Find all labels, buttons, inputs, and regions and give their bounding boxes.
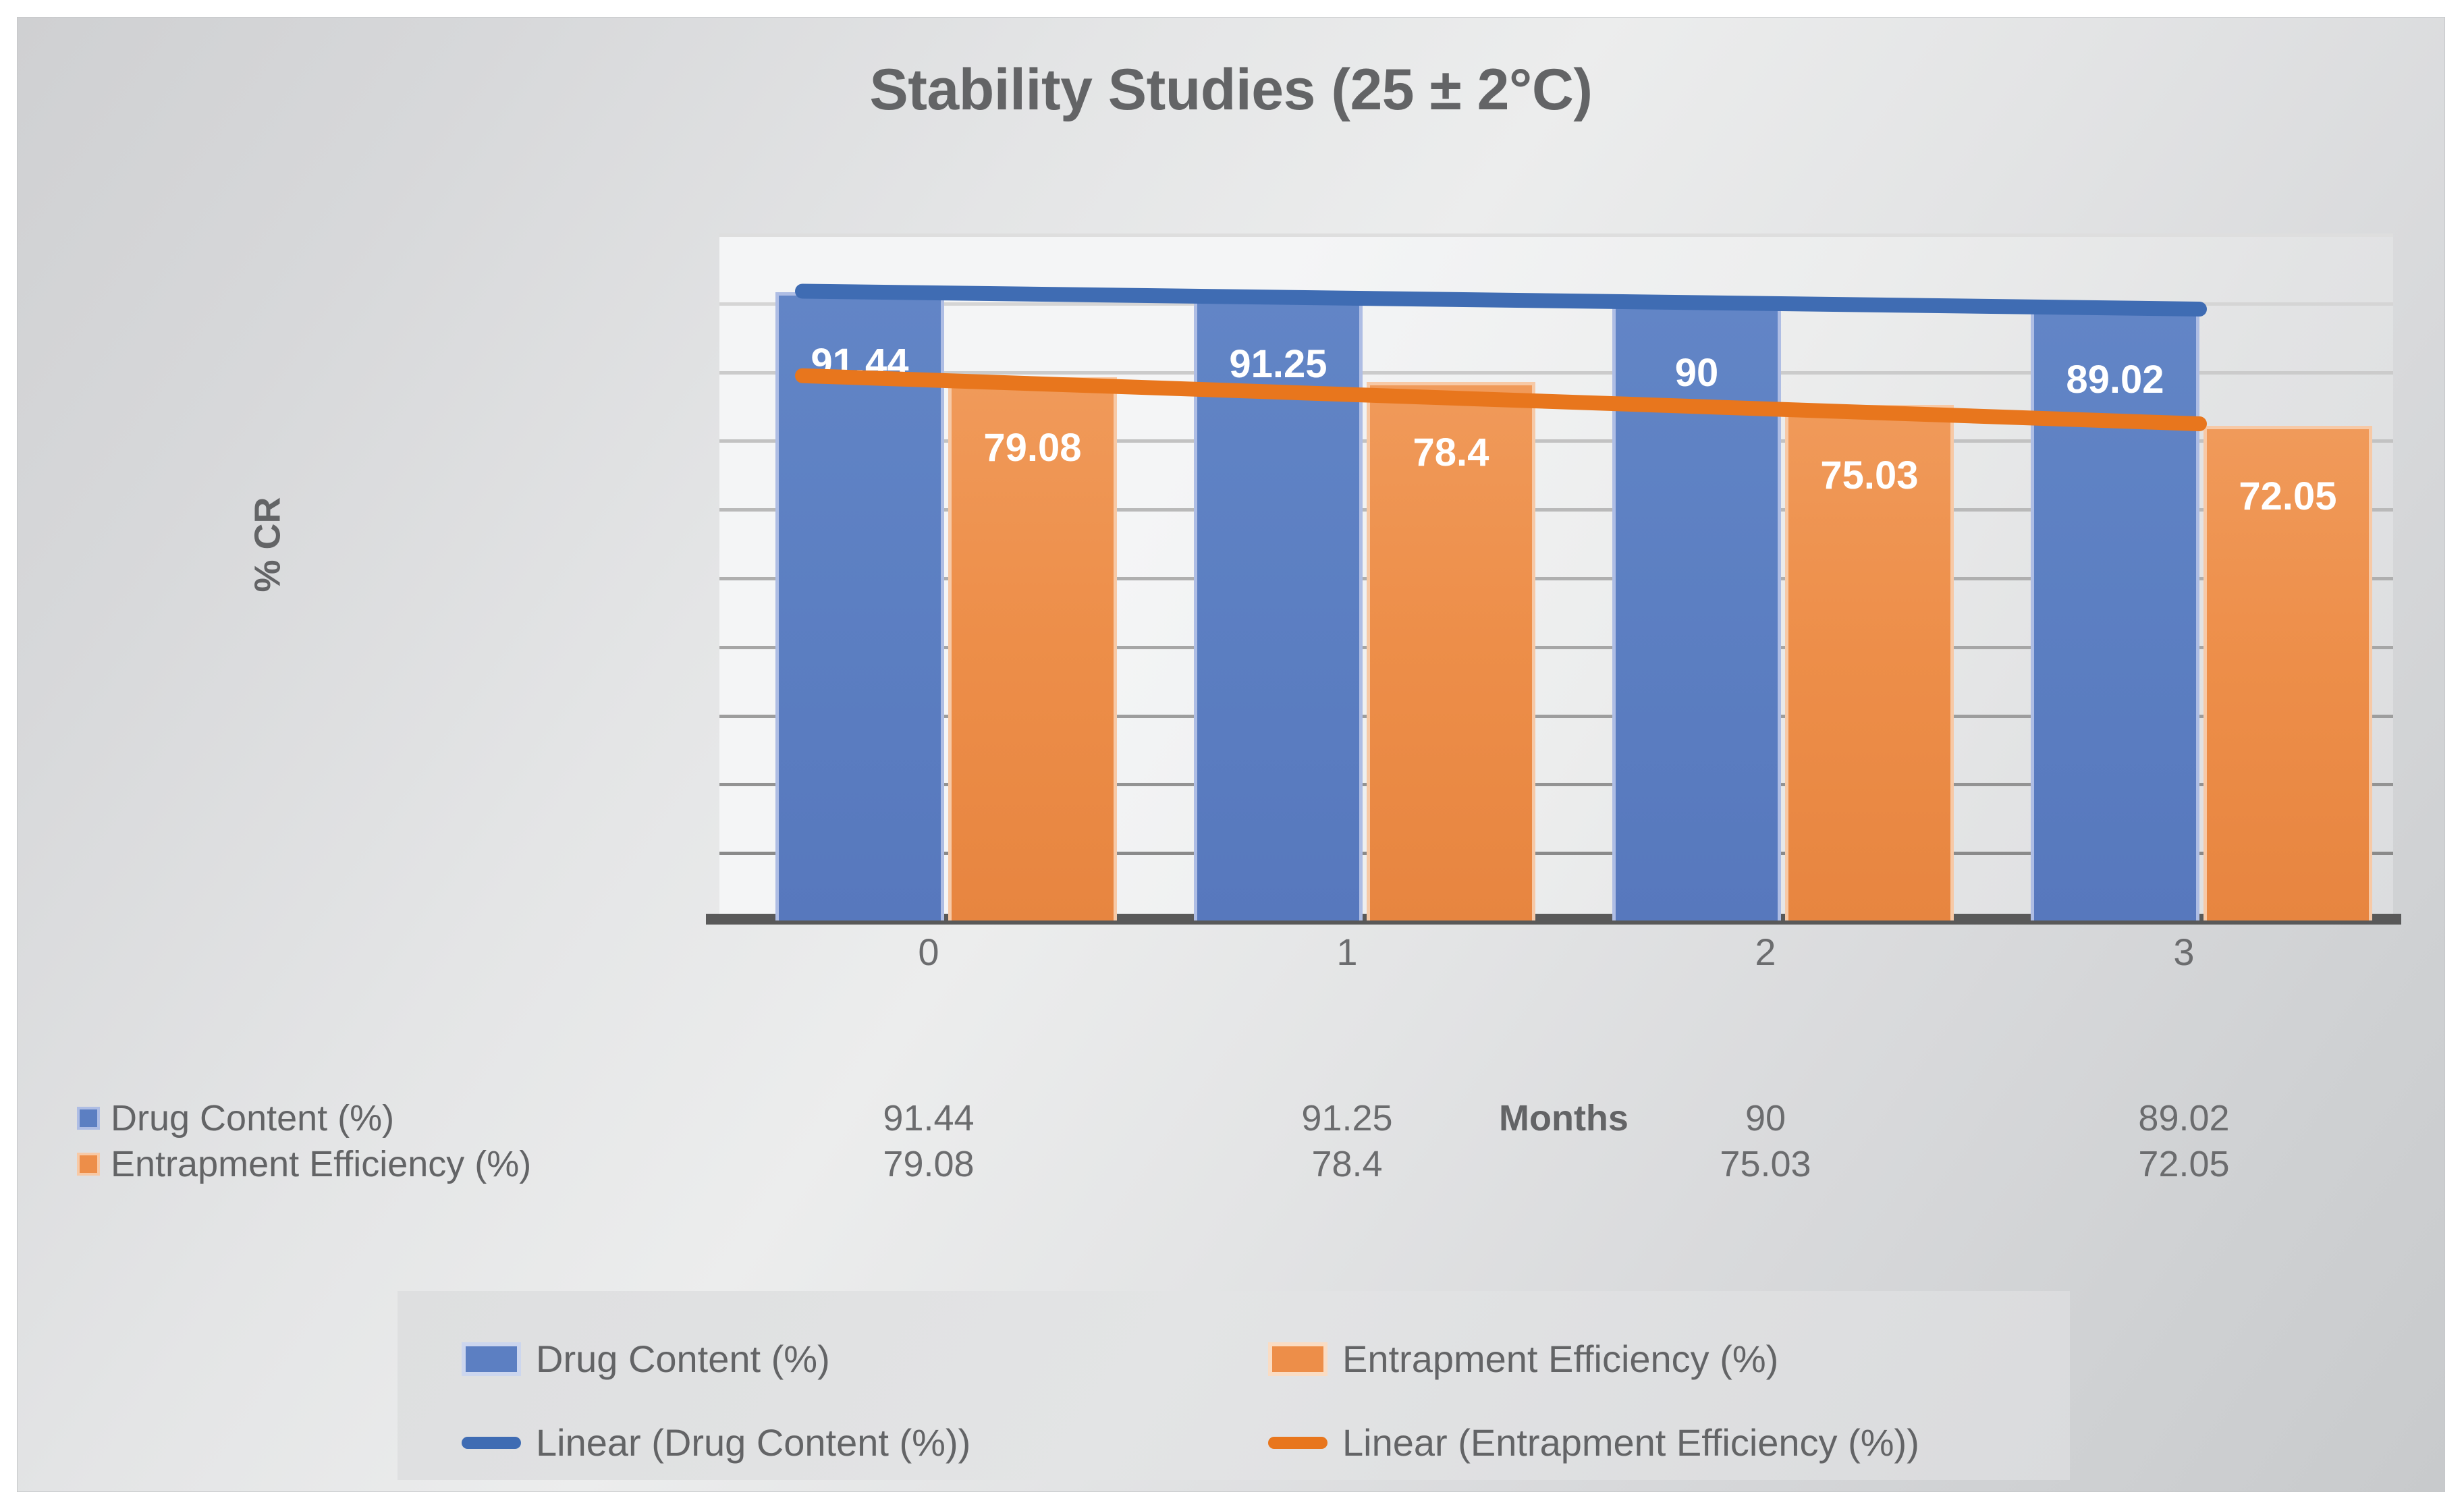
x-tick-label: 0 <box>719 930 1138 974</box>
y-axis-title: % CR <box>247 497 289 592</box>
legend-swatch-icon <box>77 1153 100 1176</box>
trendlines-layer <box>719 233 2393 921</box>
legend-item-label: Entrapment Efficiency (%) <box>1342 1337 1778 1381</box>
legend-line-icon <box>1268 1437 1327 1449</box>
data-table-cell: 89.02 <box>1975 1097 2393 1139</box>
data-table-cell: 79.08 <box>719 1143 1138 1185</box>
legend-item-label: Drug Content (%) <box>536 1337 830 1381</box>
x-tick-label: 2 <box>1556 930 1975 974</box>
trendline-entrapment-efficiency[interactable] <box>802 376 2199 424</box>
legend-swatch-icon <box>77 1107 100 1130</box>
data-table-cell: 75.03 <box>1556 1143 1975 1185</box>
trendline-drug-content[interactable] <box>802 292 2199 309</box>
legend-item[interactable]: Entrapment Efficiency (%) <box>1268 1337 1778 1381</box>
legend-line-icon <box>462 1437 521 1449</box>
data-table-cell: 78.4 <box>1138 1143 1556 1185</box>
legend-item[interactable]: Drug Content (%) <box>462 1337 830 1381</box>
data-table-cell: 91.25 <box>1138 1097 1556 1139</box>
data-table-cell: 91.44 <box>719 1097 1138 1139</box>
legend-square-icon <box>462 1342 521 1376</box>
legend-item[interactable]: Linear (Entrapment Efficiency (%)) <box>1268 1421 1919 1464</box>
legend-item-label: Linear (Entrapment Efficiency (%)) <box>1342 1421 1919 1464</box>
legend-square-icon <box>1268 1342 1327 1376</box>
data-table-row-key: Drug Content (%) <box>77 1097 394 1139</box>
chart-title: Stability Studies (25 ± 2°C) <box>18 57 2444 123</box>
data-table-cell: 90 <box>1556 1097 1975 1139</box>
data-table-row-label: Drug Content (%) <box>111 1097 394 1139</box>
chart-container[interactable]: Stability Studies (25 ± 2°C) 91.4479.089… <box>17 17 2445 1492</box>
data-table-row-label: Entrapment Efficiency (%) <box>111 1143 531 1185</box>
legend-item[interactable]: Linear (Drug Content (%)) <box>462 1421 970 1464</box>
data-table-cell: 72.05 <box>1975 1143 2393 1185</box>
x-tick-label: 3 <box>1975 930 2393 974</box>
chart-legend[interactable]: Drug Content (%)Entrapment Efficiency (%… <box>398 1291 2070 1480</box>
legend-item-label: Linear (Drug Content (%)) <box>536 1421 970 1464</box>
x-tick-label: 1 <box>1138 930 1556 974</box>
data-table-row-key: Entrapment Efficiency (%) <box>77 1143 531 1185</box>
